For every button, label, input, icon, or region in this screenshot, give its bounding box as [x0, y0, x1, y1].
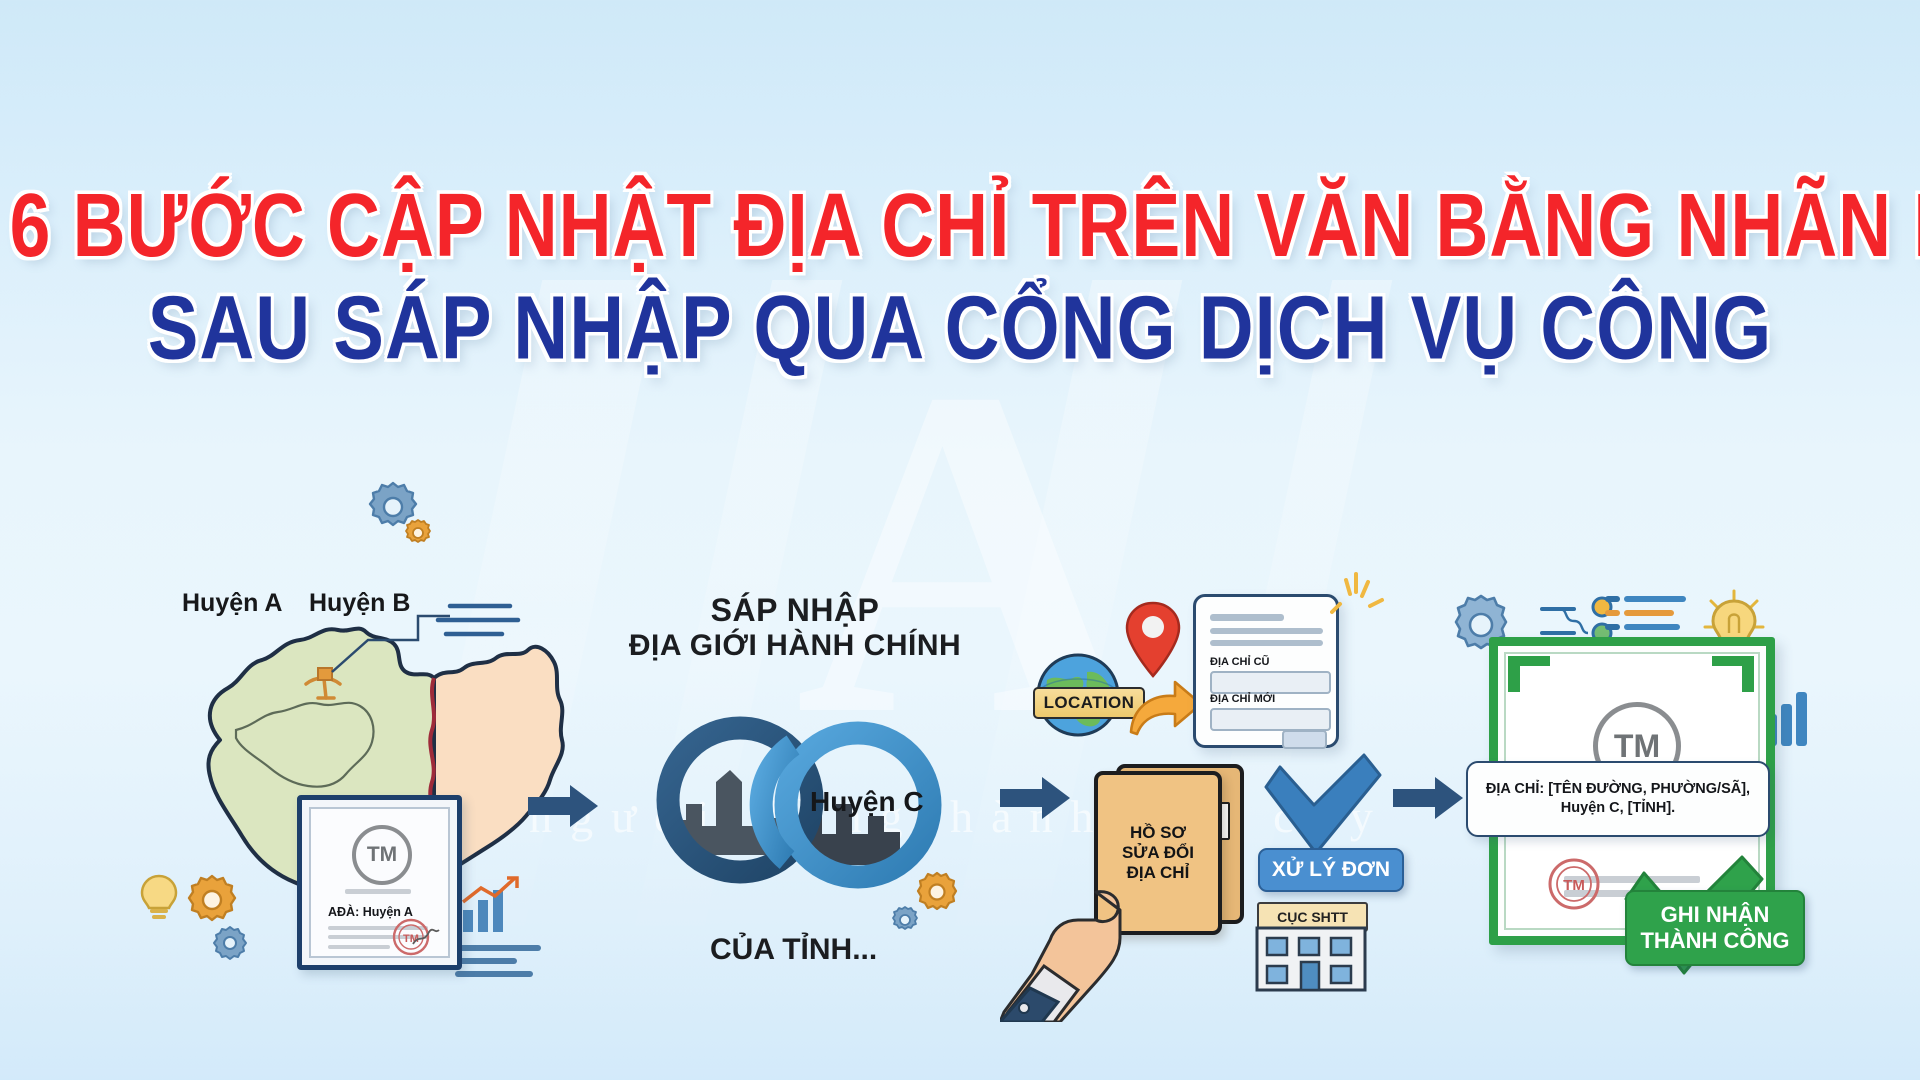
- decor-line: [1210, 628, 1323, 634]
- folder-line1: HỒ SƠ: [1130, 823, 1186, 842]
- lightbulb-icon: [138, 872, 180, 922]
- submit-button-placeholder[interactable]: [1282, 730, 1327, 749]
- gear-icon: [185, 873, 239, 927]
- svg-text:TM: TM: [1563, 877, 1585, 894]
- success-badge-line2: THÀNH CÔNG: [1640, 928, 1789, 953]
- tm-logo: TM: [352, 825, 412, 885]
- certificate-old: TM AĐÀ: Huyện A TM: [297, 795, 462, 970]
- arrow-right-icon: [528, 783, 600, 829]
- arrow-right-icon: [1000, 775, 1072, 821]
- gear-icon: [890, 905, 920, 935]
- new-address-input[interactable]: [1210, 708, 1331, 731]
- old-address-input[interactable]: [1210, 671, 1331, 694]
- infographic-canvas: A người đồng hành tin cậy 6 BƯỚC CẬP NHẬ…: [0, 0, 1920, 1080]
- corner-decor: [1506, 654, 1756, 694]
- decor-line: [328, 945, 390, 949]
- svg-text:TM: TM: [403, 933, 419, 945]
- process-application-button[interactable]: XỬ LÝ ĐƠN: [1258, 848, 1404, 892]
- merge-headline-line2: ĐỊA GIỚI HÀNH CHÍNH: [620, 629, 970, 663]
- gear-icon: [915, 870, 959, 914]
- text-lines-decor: [455, 945, 541, 977]
- field-label-old-address: ĐỊA CHỈ CŨ: [1210, 656, 1269, 668]
- seal-icon: TM: [389, 914, 443, 960]
- decor-line: [1210, 640, 1323, 646]
- decor-line: [345, 889, 411, 894]
- arrow-right-icon: [1393, 775, 1465, 821]
- updated-address-line2: Huyện C, [TỈNH].: [1553, 800, 1683, 816]
- updated-address-line1: ĐỊA CHỈ: [TÊN ĐƯỜNG, PHƯỜNG/SÃ],: [1478, 781, 1758, 797]
- page-title-line2: SAU SÁP NHẬP QUA CỔNG DỊCH VỤ CÔNG: [0, 277, 1920, 380]
- ring-label-region-c: Huyện C: [810, 786, 924, 818]
- map-label-region-b: Huyện B: [309, 589, 410, 618]
- merge-headline-line1: SÁP NHẬP: [620, 593, 970, 629]
- gear-icon: [403, 518, 433, 548]
- gear-icon: [212, 925, 248, 961]
- map-label-region-a: Huyện A: [182, 589, 282, 618]
- field-label-new-address: ĐỊA CHỈ MỚI: [1210, 693, 1275, 705]
- sparkle-icon: [1330, 570, 1386, 622]
- page-title-line1: 6 BƯỚC CẬP NHẬT ĐỊA CHỈ TRÊN VĂN BẰNG NH…: [10, 173, 1911, 277]
- address-form-card[interactable]: ĐỊA CHỈ CŨ ĐỊA CHỈ MỚI: [1193, 594, 1339, 748]
- hand-icon: [1000, 862, 1180, 1022]
- building-icon: [1255, 926, 1367, 992]
- merge-footer-text: CỦA TỈNH...: [710, 933, 877, 967]
- map-pin-icon: [1123, 600, 1183, 680]
- success-badge: GHI NHẬN THÀNH CÔNG: [1625, 890, 1805, 966]
- success-badge-line1: GHI NHẬN: [1661, 902, 1770, 927]
- updated-address-callout: ĐỊA CHỈ: [TÊN ĐƯỜNG, PHƯỜNG/SÃ], Huyện C…: [1466, 761, 1770, 837]
- merge-headline: SÁP NHẬP ĐỊA GIỚI HÀNH CHÍNH: [620, 593, 970, 662]
- seal-icon: TM: [1544, 854, 1614, 918]
- folder-line2: SỬA ĐỔI: [1122, 843, 1194, 862]
- bar-chart-icon: [459, 876, 521, 936]
- decor-line: [1210, 614, 1284, 621]
